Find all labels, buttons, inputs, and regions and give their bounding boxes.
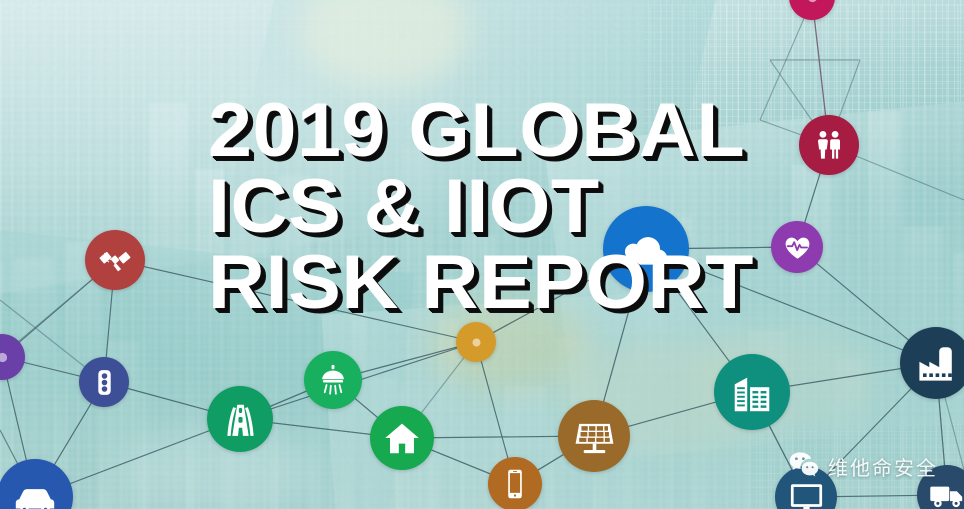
traffic-light-icon: [79, 357, 129, 407]
gold-node-icon: [456, 322, 496, 362]
home-icon: [370, 406, 434, 470]
wechat-icon: [789, 451, 819, 482]
solar-panel-icon: [558, 400, 630, 472]
title-line-1: 2019 GLOBAL: [208, 96, 754, 166]
streetlight-icon: [304, 351, 362, 409]
page-title: 2019 GLOBAL ICS & IIOT RISK REPORT: [208, 96, 733, 318]
poster-canvas: 2019 GLOBAL ICS & IIOT RISK REPORT 维他命安全: [0, 0, 964, 509]
buildings-icon: [714, 354, 790, 430]
heart-pulse-icon: [771, 221, 823, 273]
title-line-3: RISK REPORT: [208, 248, 754, 318]
road-icon: [207, 386, 273, 452]
satellite-icon: [85, 230, 145, 290]
smartphone-icon: [488, 457, 542, 509]
factory-icon: [900, 327, 964, 399]
people-icon: [799, 115, 859, 175]
watermark-text: 维他命安全: [828, 452, 938, 481]
wechat-watermark: 维他命安全: [789, 451, 938, 482]
title-line-2: ICS & IIOT: [208, 172, 754, 242]
